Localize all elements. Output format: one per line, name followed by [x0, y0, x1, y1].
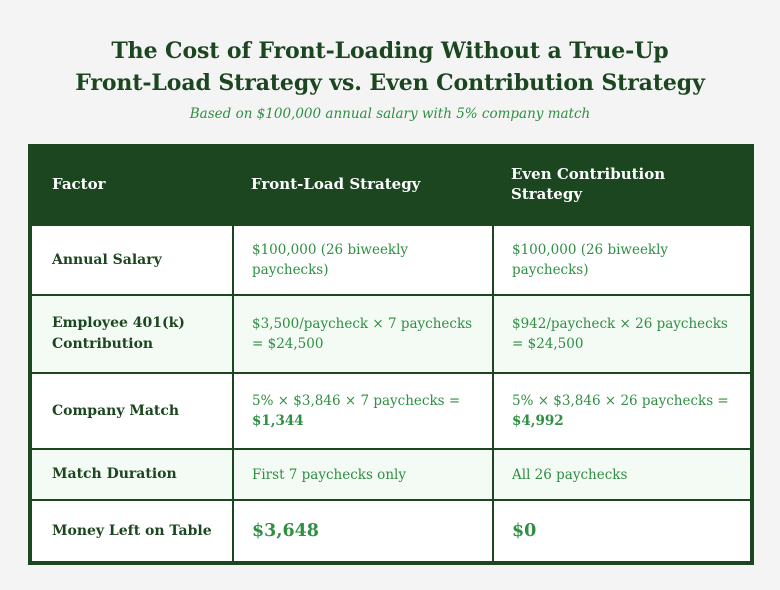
- table-row: Annual Salary $100,000 (26 biweekly payc…: [30, 225, 752, 295]
- company-match-even-text: 5% × $3,846 × 26 paychecks =: [512, 393, 729, 409]
- table-row: Employee 401(k) Contribution $3,500/payc…: [30, 295, 752, 373]
- column-header-even-contribution: Even Contribution Strategy: [493, 144, 752, 225]
- table-row: Match Duration First 7 paychecks only Al…: [30, 449, 752, 500]
- row-label-company-match: Company Match: [30, 373, 233, 449]
- cell-employee-contribution-even: $942/paycheck × 26 paychecks = $24,500: [493, 295, 752, 373]
- comparison-table-wrapper: Factor Front-Load Strategy Even Contribu…: [28, 144, 750, 565]
- infographic-page: The Cost of Front-Loading Without a True…: [0, 0, 780, 590]
- table-row: Money Left on Table $3,648 $0: [30, 500, 752, 563]
- row-label-money-left-on-table: Money Left on Table: [30, 500, 233, 563]
- page-title-line-1: The Cost of Front-Loading Without a True…: [0, 36, 780, 66]
- table-row: Company Match 5% × $3,846 × 7 paychecks …: [30, 373, 752, 449]
- cell-employee-contribution-front-load: $3,500/paycheck × 7 paychecks = $24,500: [233, 295, 493, 373]
- row-label-employee-contribution: Employee 401(k) Contribution: [30, 295, 233, 373]
- cell-money-left-front-load: $3,648: [233, 500, 493, 563]
- column-header-factor: Factor: [30, 144, 233, 225]
- table-header: Factor Front-Load Strategy Even Contribu…: [30, 144, 752, 225]
- cell-annual-salary-even: $100,000 (26 biweekly paychecks): [493, 225, 752, 295]
- column-header-front-load: Front-Load Strategy: [233, 144, 493, 225]
- company-match-front-load-text: 5% × $3,846 × 7 paychecks =: [252, 393, 460, 409]
- cell-company-match-front-load: 5% × $3,846 × 7 paychecks = $1,344: [233, 373, 493, 449]
- comparison-table: Factor Front-Load Strategy Even Contribu…: [28, 144, 754, 565]
- page-title-line-2: Front-Load Strategy vs. Even Contributio…: [0, 68, 780, 98]
- cell-money-left-even: $0: [493, 500, 752, 563]
- cell-match-duration-even: All 26 paychecks: [493, 449, 752, 500]
- company-match-front-load-amount: $1,344: [252, 413, 304, 429]
- title-block: The Cost of Front-Loading Without a True…: [0, 0, 780, 123]
- page-subtitle: Based on $100,000 annual salary with 5% …: [0, 105, 780, 123]
- company-match-even-amount: $4,992: [512, 413, 564, 429]
- row-label-annual-salary: Annual Salary: [30, 225, 233, 295]
- table-header-row: Factor Front-Load Strategy Even Contribu…: [30, 144, 752, 225]
- row-label-match-duration: Match Duration: [30, 449, 233, 500]
- cell-match-duration-front-load: First 7 paychecks only: [233, 449, 493, 500]
- table-body: Annual Salary $100,000 (26 biweekly payc…: [30, 225, 752, 563]
- cell-company-match-even: 5% × $3,846 × 26 paychecks = $4,992: [493, 373, 752, 449]
- cell-annual-salary-front-load: $100,000 (26 biweekly paychecks): [233, 225, 493, 295]
